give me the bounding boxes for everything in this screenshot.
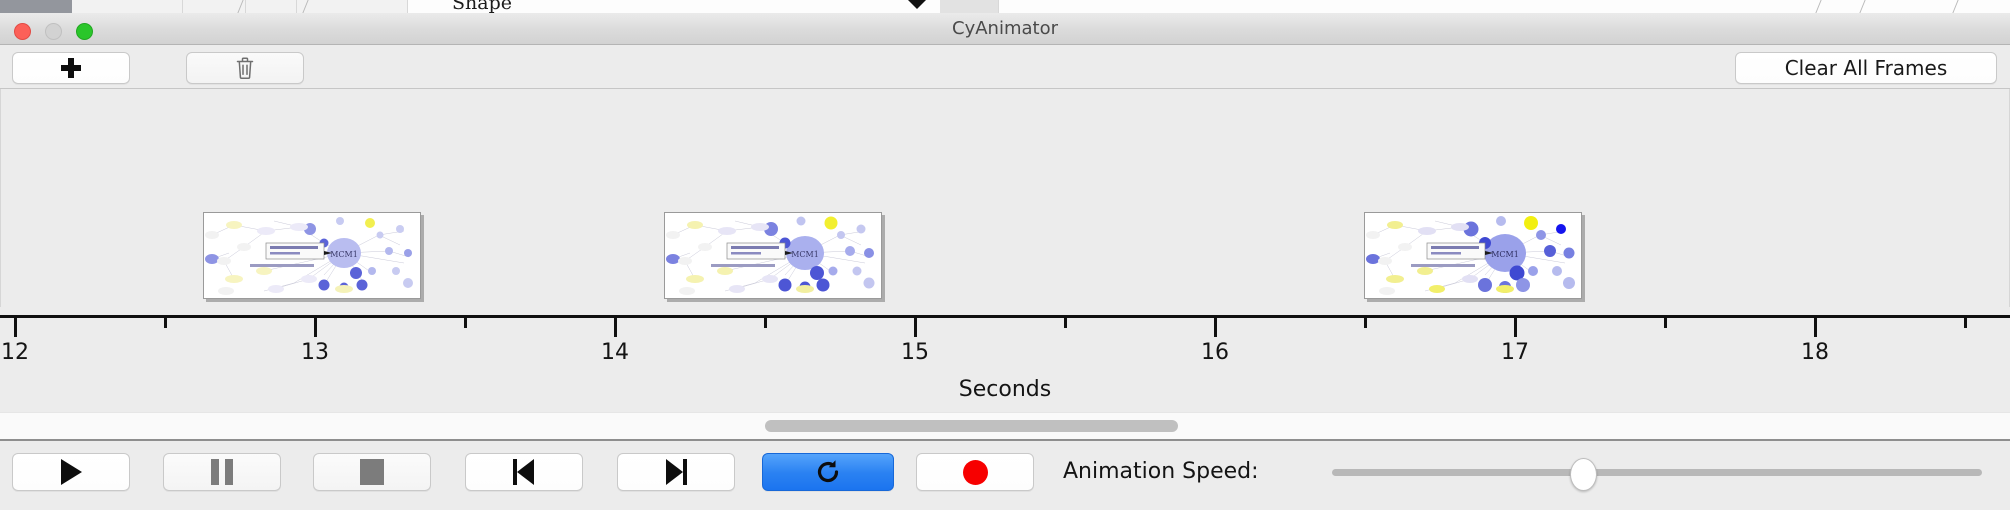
axis-tick-minor bbox=[1364, 318, 1367, 328]
axis-tick-label: 15 bbox=[901, 340, 929, 365]
keyframe-thumbnail[interactable]: MCM1 bbox=[1364, 212, 1582, 299]
clear-all-frames-button[interactable]: Clear All Frames bbox=[1735, 52, 1997, 84]
keyframe-thumbnail[interactable]: MCM1 bbox=[203, 212, 421, 299]
skip-to-end-button[interactable] bbox=[617, 453, 735, 491]
network-graph-preview: MCM1 bbox=[665, 213, 881, 298]
record-icon bbox=[963, 460, 988, 485]
record-button[interactable] bbox=[916, 453, 1034, 491]
delete-frame-button[interactable] bbox=[186, 52, 304, 84]
timeline-scrollbar-thumb[interactable] bbox=[765, 420, 1178, 432]
timeline-axis: 12131415161718 bbox=[0, 307, 2010, 377]
axis-tick-minor bbox=[464, 318, 467, 328]
axis-tick-label: 14 bbox=[601, 340, 629, 365]
background-window-divider bbox=[1815, 0, 1821, 13]
svg-text:MCM1: MCM1 bbox=[791, 250, 819, 259]
window-title: CyAnimator bbox=[0, 13, 2010, 45]
loop-button[interactable] bbox=[762, 453, 894, 491]
skip-to-start-button[interactable] bbox=[465, 453, 583, 491]
animation-speed-label: Animation Speed: bbox=[1063, 453, 1259, 491]
background-window-divider bbox=[1952, 0, 1958, 13]
axis-tick-major bbox=[1814, 318, 1817, 337]
transport-bar: Animation Speed: bbox=[0, 443, 2010, 510]
axis-tick-label: 17 bbox=[1501, 340, 1529, 365]
svg-text:MCM1: MCM1 bbox=[1491, 250, 1519, 259]
play-icon bbox=[61, 459, 82, 485]
axis-tick-major bbox=[614, 318, 617, 337]
background-window-divider bbox=[1859, 0, 1865, 13]
animation-speed-slider[interactable] bbox=[1332, 453, 1982, 491]
play-button[interactable] bbox=[12, 453, 130, 491]
stop-icon bbox=[360, 459, 384, 485]
skip-next-icon bbox=[665, 459, 687, 485]
background-cursor-icon bbox=[908, 0, 926, 9]
skip-previous-icon bbox=[513, 459, 535, 485]
background-window-chunk bbox=[246, 0, 297, 13]
axis-tick-major bbox=[914, 318, 917, 337]
timeline-scrollbar[interactable] bbox=[0, 412, 2010, 441]
axis-tick-minor bbox=[1064, 318, 1067, 328]
axis-tick-major bbox=[1514, 318, 1517, 337]
stop-button[interactable] bbox=[313, 453, 431, 491]
clear-all-frames-label: Clear All Frames bbox=[1785, 56, 1948, 80]
slider-thumb[interactable] bbox=[1570, 458, 1597, 491]
axis-tick-minor bbox=[1664, 318, 1667, 328]
add-frame-button[interactable] bbox=[12, 52, 130, 84]
axis-title: Seconds bbox=[0, 377, 2010, 402]
plus-icon bbox=[60, 57, 82, 79]
axis-tick-minor bbox=[164, 318, 167, 328]
trash-icon bbox=[235, 56, 255, 80]
axis-line bbox=[0, 315, 2010, 318]
slider-track bbox=[1332, 469, 1982, 476]
background-window-chunk bbox=[940, 0, 999, 13]
pause-icon bbox=[211, 459, 233, 485]
axis-tick-label: 13 bbox=[301, 340, 329, 365]
toolbar: Clear All Frames bbox=[0, 45, 2010, 89]
network-graph-preview: MCM1 bbox=[1365, 213, 1581, 298]
keyframe-thumbnail[interactable]: MCM1 bbox=[664, 212, 882, 299]
pause-button[interactable] bbox=[163, 453, 281, 491]
background-app-label: Shape bbox=[452, 0, 512, 13]
axis-tick-minor bbox=[764, 318, 767, 328]
axis-tick-major bbox=[1214, 318, 1217, 337]
titlebar: CyAnimator bbox=[0, 13, 2010, 45]
axis-tick-major bbox=[314, 318, 317, 337]
axis-tick-label: 12 bbox=[1, 340, 29, 365]
loop-icon bbox=[814, 458, 842, 486]
cyanimator-window: Shape CyAnimator Clear All Frames bbox=[0, 0, 2010, 510]
background-window-chunk bbox=[72, 0, 183, 13]
background-window-strip: Shape bbox=[0, 0, 2010, 13]
background-window-chunk bbox=[297, 0, 408, 13]
svg-text:MCM1: MCM1 bbox=[330, 250, 358, 259]
axis-tick-minor bbox=[1964, 318, 1967, 328]
timeline-track[interactable]: MCM1 bbox=[0, 89, 2010, 321]
axis-tick-major bbox=[14, 318, 17, 337]
axis-tick-label: 16 bbox=[1201, 340, 1229, 365]
axis-tick-label: 18 bbox=[1801, 340, 1829, 365]
network-graph-preview: MCM1 bbox=[204, 213, 420, 298]
background-window-titlebar bbox=[0, 0, 72, 13]
background-window-chunk bbox=[183, 0, 246, 13]
